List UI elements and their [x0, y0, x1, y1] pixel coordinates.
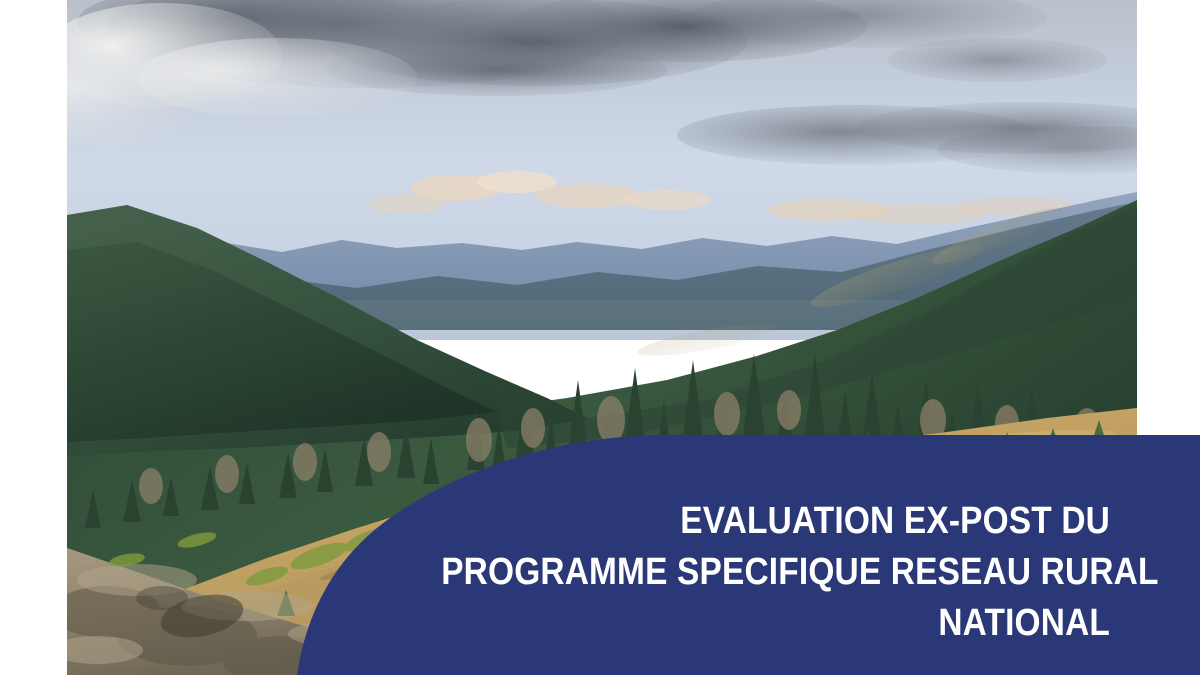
cover-title-line-2: PROGRAMME SPECIFIQUE RESEAU RURAL	[441, 547, 1110, 598]
cover-title-line-3: NATIONAL	[441, 598, 1110, 649]
cover-title: EVALUATION EX-POST DU PROGRAMME SPECIFIQ…	[350, 496, 1110, 649]
cover-title-line-1: EVALUATION EX-POST DU	[441, 496, 1110, 547]
report-cover-page: EVALUATION EX-POST DU PROGRAMME SPECIFIQ…	[0, 0, 1200, 675]
